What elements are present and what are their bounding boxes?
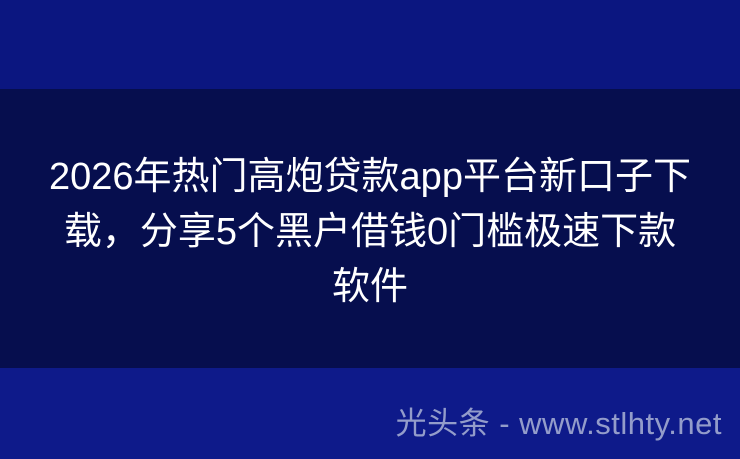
top-color-band bbox=[0, 0, 740, 89]
site-watermark: 光头条 - www.stlhty.net bbox=[396, 404, 722, 444]
middle-color-band bbox=[0, 89, 740, 368]
promo-banner: 2026年热门高炮贷款app平台新口子下载，分享5个黑户借钱0门槛极速下款软件 … bbox=[0, 0, 740, 459]
